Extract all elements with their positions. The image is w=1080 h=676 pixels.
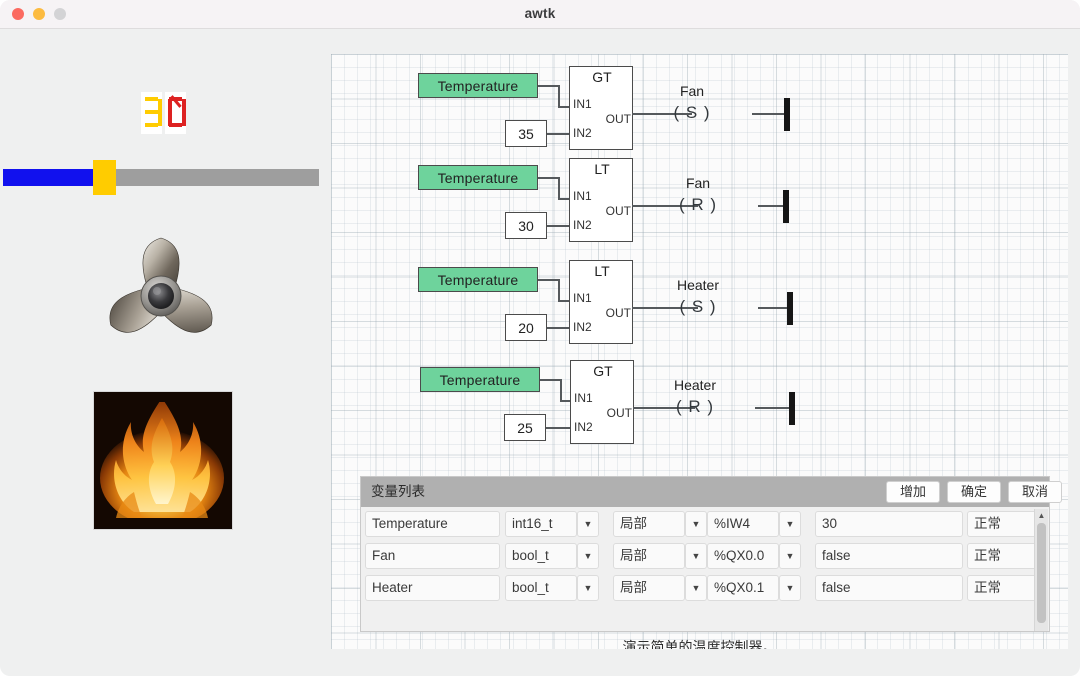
rung-variable-box[interactable]: Temperature bbox=[418, 267, 538, 292]
wire-const-to-in2 bbox=[547, 133, 571, 135]
function-block-title: GT bbox=[571, 363, 635, 379]
wire-coil-to-bus bbox=[755, 407, 791, 409]
wire-const-to-in2 bbox=[547, 225, 571, 227]
variable-rows-container: Temperature int16_t ▼ 局部 ▼ %IW4 ▼ 30 正常 … bbox=[365, 509, 1037, 629]
wire-const-to-in2 bbox=[546, 427, 572, 429]
seven-segment-digit-ones bbox=[165, 92, 186, 134]
variable-scope-select[interactable]: 局部 bbox=[613, 575, 685, 601]
segment-c bbox=[158, 112, 162, 126]
temperature-slider[interactable] bbox=[3, 169, 319, 186]
temperature-digital-display bbox=[141, 92, 187, 134]
pin-out-label: OUT bbox=[607, 406, 632, 420]
coil-symbol[interactable]: ( S ) bbox=[632, 103, 752, 123]
variable-status-select[interactable]: 正常 bbox=[967, 575, 1037, 601]
seven-segment-digit-tens bbox=[141, 92, 162, 134]
segment-b bbox=[182, 99, 186, 113]
scroll-up-icon[interactable]: ▲ bbox=[1035, 509, 1048, 522]
chevron-down-icon[interactable]: ▼ bbox=[577, 575, 599, 601]
title-bar: awtk bbox=[0, 0, 1080, 29]
table-row[interactable]: Temperature int16_t ▼ 局部 ▼ %IW4 ▼ 30 正常 … bbox=[365, 511, 1037, 537]
left-panel bbox=[0, 29, 330, 649]
app-window: awtk bbox=[0, 0, 1080, 676]
ladder-rung[interactable]: Temperature 20 LT IN1 IN2 OUT Heater ( S… bbox=[331, 257, 1068, 357]
chevron-down-icon[interactable]: ▼ bbox=[779, 575, 801, 601]
function-block-title: LT bbox=[570, 161, 634, 177]
rung-variable-box[interactable]: Temperature bbox=[420, 367, 540, 392]
pin-in2-label: IN2 bbox=[573, 126, 592, 140]
segment-e bbox=[168, 112, 172, 126]
right-power-rail bbox=[789, 392, 795, 425]
right-power-rail bbox=[784, 98, 790, 131]
right-power-rail bbox=[787, 292, 793, 325]
rung-constant-box[interactable]: 20 bbox=[505, 314, 547, 341]
pin-out-label: OUT bbox=[606, 112, 631, 126]
variable-value-input[interactable]: 30 bbox=[815, 511, 963, 537]
wire-var-drop bbox=[560, 379, 562, 401]
coil-label: Heater bbox=[635, 377, 755, 393]
chevron-down-icon[interactable]: ▼ bbox=[685, 543, 707, 569]
function-block[interactable]: GT IN1 IN2 OUT bbox=[569, 66, 633, 150]
coil-symbol[interactable]: ( S ) bbox=[638, 297, 758, 317]
function-block-title: LT bbox=[570, 263, 634, 279]
rung-constant-box[interactable]: 30 bbox=[505, 212, 547, 239]
coil-symbol[interactable]: ( R ) bbox=[635, 397, 755, 417]
ladder-rung[interactable]: Temperature 30 LT IN1 IN2 OUT Fan ( R ) bbox=[331, 155, 1068, 255]
editor-caption: 演示简单的温度控制器。 bbox=[331, 637, 1068, 649]
coil-label: Heater bbox=[638, 277, 758, 293]
variable-name-input[interactable]: Heater bbox=[365, 575, 500, 601]
ladder-rung[interactable]: Temperature 25 GT IN1 IN2 OUT Heater ( R… bbox=[331, 357, 1068, 457]
wire-var-out bbox=[538, 177, 559, 179]
variable-value-input[interactable]: false bbox=[815, 575, 963, 601]
variable-scope-select[interactable]: 局部 bbox=[613, 543, 685, 569]
pin-in1-label: IN1 bbox=[573, 189, 592, 203]
variable-status-select[interactable]: 正常 bbox=[967, 511, 1037, 537]
wire-var-drop bbox=[558, 85, 560, 107]
wire-var-out bbox=[538, 85, 559, 87]
pin-in2-label: IN2 bbox=[573, 218, 592, 232]
variable-type-select[interactable]: bool_t bbox=[505, 543, 577, 569]
add-variable-button[interactable]: 增加 bbox=[886, 481, 940, 503]
wire-coil-to-bus bbox=[752, 113, 787, 115]
wire-var-out bbox=[540, 379, 561, 381]
function-block[interactable]: LT IN1 IN2 OUT bbox=[569, 260, 633, 344]
chevron-down-icon[interactable]: ▼ bbox=[577, 511, 599, 537]
segment-g bbox=[145, 110, 158, 114]
rung-variable-box[interactable]: Temperature bbox=[418, 165, 538, 190]
variable-name-input[interactable]: Temperature bbox=[365, 511, 500, 537]
chevron-down-icon[interactable]: ▼ bbox=[779, 543, 801, 569]
propeller-fan-icon bbox=[98, 232, 224, 350]
chevron-down-icon[interactable]: ▼ bbox=[685, 511, 707, 537]
wire-var-drop bbox=[558, 177, 560, 199]
pin-out-label: OUT bbox=[606, 204, 631, 218]
variable-list-panel: 变量列表 增加 确定 取消 Temperature int16_t ▼ 局部 ▼… bbox=[360, 476, 1050, 632]
variable-address-select[interactable]: %QX0.0 bbox=[707, 543, 779, 569]
rung-variable-box[interactable]: Temperature bbox=[418, 73, 538, 98]
pin-in2-label: IN2 bbox=[573, 320, 592, 334]
segment-b bbox=[158, 99, 162, 113]
wire-const-to-in2 bbox=[547, 327, 571, 329]
pin-in1-label: IN1 bbox=[573, 291, 592, 305]
pin-in1-label: IN1 bbox=[574, 391, 593, 405]
chevron-down-icon[interactable]: ▼ bbox=[577, 543, 599, 569]
table-row[interactable]: Heater bool_t ▼ 局部 ▼ %QX0.1 ▼ false 正常 ▼… bbox=[365, 575, 1037, 601]
rung-constant-box[interactable]: 35 bbox=[505, 120, 547, 147]
variable-list-scrollbar[interactable]: ▲ bbox=[1034, 509, 1048, 631]
rung-constant-box[interactable]: 25 bbox=[504, 414, 546, 441]
table-row[interactable]: Fan bool_t ▼ 局部 ▼ %QX0.0 ▼ false 正常 ▼ X bbox=[365, 543, 1037, 569]
function-block[interactable]: LT IN1 IN2 OUT bbox=[569, 158, 633, 242]
pin-in1-label: IN1 bbox=[573, 97, 592, 111]
variable-list-title: 变量列表 bbox=[371, 477, 425, 507]
cancel-button[interactable]: 取消 bbox=[1008, 481, 1062, 503]
segment-f bbox=[168, 99, 172, 113]
coil-label: Fan bbox=[638, 175, 758, 191]
segment-c bbox=[182, 112, 186, 126]
variable-address-select[interactable]: %QX0.1 bbox=[707, 575, 779, 601]
variable-list-header: 变量列表 增加 确定 取消 bbox=[361, 477, 1049, 507]
function-block-title: GT bbox=[570, 69, 634, 85]
variable-scope-select[interactable]: 局部 bbox=[613, 511, 685, 537]
confirm-button[interactable]: 确定 bbox=[947, 481, 1001, 503]
pin-out-label: OUT bbox=[606, 306, 631, 320]
right-power-rail bbox=[783, 190, 789, 223]
slider-thumb[interactable] bbox=[93, 160, 116, 195]
scrollbar-thumb[interactable] bbox=[1037, 523, 1046, 623]
chevron-down-icon[interactable]: ▼ bbox=[779, 511, 801, 537]
chevron-down-icon[interactable]: ▼ bbox=[685, 575, 707, 601]
coil-label: Fan bbox=[632, 83, 752, 99]
variable-status-select[interactable]: 正常 bbox=[967, 543, 1037, 569]
wire-var-drop bbox=[558, 279, 560, 301]
variable-address-select[interactable]: %IW4 bbox=[707, 511, 779, 537]
variable-type-select[interactable]: bool_t bbox=[505, 575, 577, 601]
window-title: awtk bbox=[0, 0, 1080, 28]
slider-fill bbox=[3, 169, 95, 186]
variable-name-input[interactable]: Fan bbox=[365, 543, 500, 569]
fire-flame-image bbox=[93, 391, 233, 530]
coil-symbol[interactable]: ( R ) bbox=[638, 195, 758, 215]
variable-value-input[interactable]: false bbox=[815, 543, 963, 569]
pin-in2-label: IN2 bbox=[574, 420, 593, 434]
function-block[interactable]: GT IN1 IN2 OUT bbox=[570, 360, 634, 444]
variable-type-select[interactable]: int16_t bbox=[505, 511, 577, 537]
ladder-rung[interactable]: Temperature 35 GT IN1 IN2 OUT Fan ( S ) bbox=[331, 63, 1068, 163]
wire-var-out bbox=[538, 279, 559, 281]
